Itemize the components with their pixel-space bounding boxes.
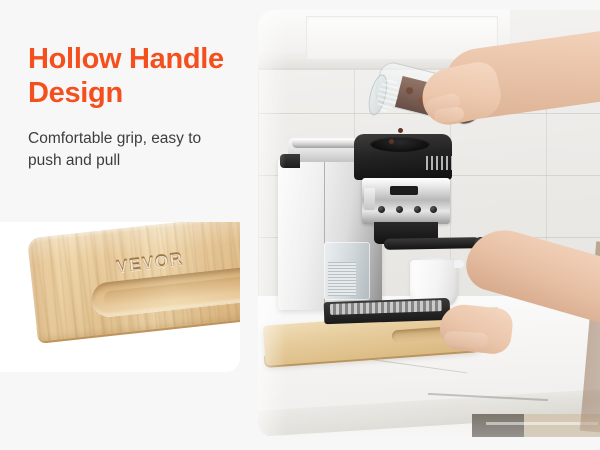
brand-engraving-label: VEVOR	[115, 249, 185, 277]
control-panel-display	[390, 186, 418, 195]
bean-hopper-opening	[370, 136, 430, 152]
hollow-handle-groove	[90, 266, 240, 318]
control-button-1	[378, 206, 385, 213]
photo-bottom-highlight	[258, 401, 600, 437]
gripping-hand-finger	[444, 331, 489, 348]
banner-stage: Hollow Handle Design Comfortable grip, e…	[0, 0, 600, 450]
water-tank-grill	[328, 262, 356, 296]
page-title: Hollow Handle Design	[28, 42, 253, 110]
falling-bean	[398, 128, 403, 133]
left-text-column: Hollow Handle Design Comfortable grip, e…	[0, 0, 258, 450]
control-button-3	[414, 206, 421, 213]
falling-bean	[389, 139, 394, 144]
product-image-bamboo-board: VEVOR	[0, 222, 240, 361]
lifestyle-photo-panel	[258, 10, 600, 437]
cup-spout	[454, 260, 464, 268]
control-panel-button-row	[376, 206, 438, 214]
photo-scene	[258, 10, 600, 437]
machine-brand-mark	[426, 156, 452, 170]
control-panel-side-button	[364, 188, 375, 210]
page-subtitle: Comfortable grip, easy to push and pull	[28, 128, 233, 172]
product-card: VEVOR	[0, 222, 240, 372]
control-panel	[362, 178, 450, 224]
photo-left-highlight	[258, 10, 286, 437]
groove-inner-shadow	[103, 276, 240, 307]
portafilter-wand	[384, 237, 480, 250]
control-button-2	[396, 206, 403, 213]
control-button-4	[430, 206, 437, 213]
